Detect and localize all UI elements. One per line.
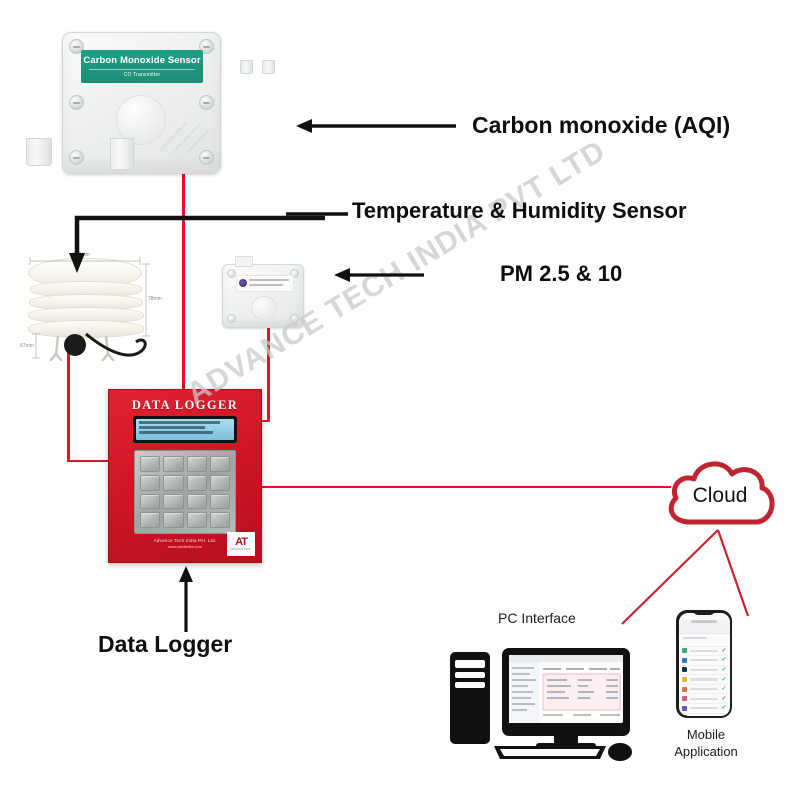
lcd-display — [136, 419, 234, 440]
keypad-key[interactable] — [210, 475, 230, 491]
screw-icon — [69, 150, 84, 165]
list-item[interactable]: ✓ — [679, 666, 730, 676]
housing-hatch-lines — [156, 121, 208, 155]
check-icon: ✓ — [721, 677, 726, 683]
arrow-pm — [334, 265, 424, 285]
mobile-application[interactable]: ✓ ✓ ✓ ✓ ✓ ✓ ✓ ✓ ✓ ✓ — [676, 610, 732, 718]
status-square-icon — [682, 687, 687, 692]
phone-notch — [693, 610, 715, 615]
list-item-label — [690, 707, 719, 709]
keypad-key[interactable] — [163, 456, 183, 472]
callout-pm: PM 2.5 & 10 — [500, 261, 622, 287]
cloud-node[interactable]: Cloud — [660, 448, 780, 530]
app-subtitle-placeholder — [683, 637, 707, 640]
list-item-label — [690, 678, 719, 680]
screw-icon — [199, 95, 214, 110]
data-logger-title: DATA LOGGER — [109, 398, 261, 413]
nameplate-divider — [89, 69, 195, 70]
list-item[interactable]: ✓ — [679, 656, 730, 666]
list-item[interactable]: ✓ — [679, 694, 730, 704]
status-square-icon — [682, 677, 687, 682]
keypad-key[interactable] — [210, 494, 230, 510]
keypad-key[interactable] — [187, 456, 207, 472]
check-icon: ✓ — [721, 705, 726, 711]
arrow-temp-humidity — [286, 210, 348, 218]
list-item-label — [690, 650, 719, 652]
list-item[interactable]: ✓ — [679, 685, 730, 695]
status-square-icon — [682, 648, 687, 653]
pm-sensor-inlet — [251, 296, 277, 320]
keypad-key[interactable] — [163, 475, 183, 491]
keypad[interactable] — [134, 450, 236, 534]
pm-cable-gland — [240, 60, 253, 74]
keypad-key[interactable] — [140, 494, 160, 510]
mobile-label-line2: Application — [666, 743, 746, 760]
check-icon: ✓ — [721, 657, 726, 663]
wire-logger-to-cloud — [259, 486, 671, 488]
keypad-key[interactable] — [163, 512, 183, 528]
status-square-icon — [682, 667, 687, 672]
diagram-canvas: Carbon Monoxide Sensor CO Transmitter — [0, 0, 800, 800]
brand-mark: AT — [235, 537, 247, 548]
list-item-label — [690, 688, 719, 690]
status-square-icon — [682, 706, 687, 711]
app-title-placeholder — [691, 620, 717, 624]
pc-interface[interactable] — [448, 640, 638, 760]
keypad-key[interactable] — [187, 512, 207, 528]
screw-icon — [227, 314, 236, 323]
mobile-label-line1: Mobile — [666, 726, 746, 743]
keypad-key[interactable] — [210, 512, 230, 528]
arrow-data-logger — [176, 566, 196, 632]
list-item[interactable]: ✓ — [679, 714, 730, 716]
keypad-key[interactable] — [187, 475, 207, 491]
status-square-icon — [682, 696, 687, 701]
keypad-key[interactable] — [187, 494, 207, 510]
desktop-computer-icon — [448, 640, 638, 760]
keypad-key[interactable] — [140, 456, 160, 472]
co-sensor-title: Carbon Monoxide Sensor — [81, 50, 203, 68]
app-header — [679, 620, 730, 634]
status-square-icon — [682, 658, 687, 663]
brand-badge: AT ADVANCE TECH — [227, 532, 255, 556]
check-icon: ✓ — [721, 648, 726, 654]
callout-carbon-monoxide: Carbon monoxide (AQI) — [472, 112, 730, 139]
list-item-label — [690, 669, 719, 671]
lcd-text-line — [139, 426, 205, 429]
mobile-application-label: Mobile Application — [666, 726, 746, 760]
co-sensor-port — [110, 138, 134, 170]
cloud-label: Cloud — [660, 484, 780, 508]
check-icon: ✓ — [721, 715, 726, 716]
screw-icon — [69, 95, 84, 110]
keypad-key[interactable] — [140, 475, 160, 491]
list-item[interactable]: ✓ — [679, 675, 730, 685]
keypad-key[interactable] — [140, 512, 160, 528]
pm-sensor-port — [262, 60, 275, 74]
lcd-bezel — [133, 416, 237, 443]
list-item[interactable]: ✓ — [679, 704, 730, 714]
app-subheader — [679, 637, 730, 647]
co-cable-gland — [26, 138, 52, 166]
callout-temp-humidity: Temperature & Humidity Sensor — [352, 198, 687, 224]
dimension-base: 67mm — [20, 343, 34, 349]
keypad-key[interactable] — [163, 494, 183, 510]
lcd-text-line — [139, 431, 213, 434]
co-sensor-nameplate: Carbon Monoxide Sensor CO Transmitter — [81, 50, 203, 83]
phone-screen[interactable]: ✓ ✓ ✓ ✓ ✓ ✓ ✓ ✓ ✓ ✓ — [679, 613, 730, 716]
data-logger-device[interactable]: DATA LOGGER Adva — [108, 389, 262, 563]
list-item-label — [690, 659, 719, 661]
arrow-carbon-monoxide — [296, 116, 456, 136]
keypad-key[interactable] — [210, 456, 230, 472]
carbon-monoxide-sensor: Carbon Monoxide Sensor CO Transmitter — [62, 32, 221, 174]
check-icon: ✓ — [721, 686, 726, 692]
check-icon: ✓ — [721, 667, 726, 673]
callout-data-logger: Data Logger — [98, 631, 232, 658]
list-item[interactable]: ✓ — [679, 647, 730, 657]
pc-interface-label: PC Interface — [498, 610, 576, 626]
brand-sub: ADVANCE TECH — [231, 548, 251, 552]
co-sensor-subtitle: CO Transmitter — [81, 72, 203, 79]
lcd-text-line — [139, 421, 220, 424]
dimension-height: 78mm — [148, 296, 162, 302]
check-icon: ✓ — [721, 696, 726, 702]
wire-th-horizontal — [67, 460, 110, 463]
list-item-label — [690, 698, 719, 700]
